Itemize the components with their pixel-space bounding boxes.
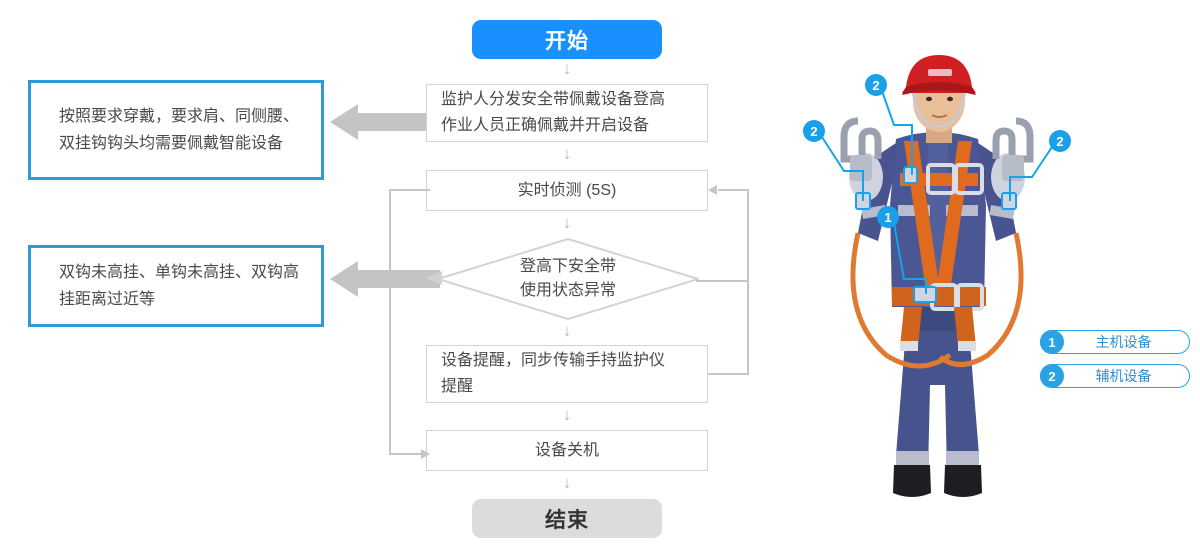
connector-arrow-start-to-distribute: ↓ (552, 60, 582, 77)
flow-decision-line1: 登高下安全带 (520, 255, 616, 279)
connector-arrow-poweroff-to-end: ↓ (552, 474, 582, 491)
device-legend: 1 主机设备 2 辅机设备 (1040, 330, 1190, 398)
callout-abnormal-cases[interactable]: 双钩未高挂、单钩未高挂、双钩高挂距离过近等 (28, 245, 324, 327)
flow-step-distribute-text: 监护人分发安全带佩戴设备登高 作业人员正确佩戴并开启设备 (427, 87, 707, 139)
callout-abnormal-cases-text: 双钩未高挂、单钩未高挂、双钩高挂距离过近等 (59, 259, 307, 313)
flow-step-realtime-detect-text: 实时侦测 (5S) (427, 178, 707, 204)
flow-end-terminator[interactable]: 结束 (472, 499, 662, 538)
flow-start-label: 开始 (545, 25, 589, 55)
flow-step-device-alert[interactable]: 设备提醒，同步传输手持监护仪 提醒 (426, 345, 708, 403)
photo-marker-2-right-hook: 2 (1049, 130, 1071, 152)
legend-item-auxiliary-device[interactable]: 2 辅机设备 (1040, 364, 1190, 388)
legend-label-auxiliary-device: 辅机设备 (1064, 366, 1189, 386)
svg-text:2: 2 (810, 124, 817, 139)
flow-step-power-off[interactable]: 设备关机 (426, 430, 708, 471)
callout-wear-requirement[interactable]: 按照要求穿戴，要求肩、同侧腰、双挂钩钩头均需要佩戴智能设备 (28, 80, 324, 180)
svg-text:2: 2 (1056, 134, 1063, 149)
photo-marker-2-left-shoulder: 2 (865, 74, 887, 96)
photo-marker-2-left-hook: 2 (803, 120, 825, 142)
svg-text:1: 1 (884, 210, 891, 225)
connector-decision-right-stub (696, 277, 752, 285)
legend-item-host-device[interactable]: 1 主机设备 (1040, 330, 1190, 354)
legend-label-host-device: 主机设备 (1064, 332, 1189, 352)
flow-end-label: 结束 (545, 504, 589, 534)
flow-decision-label: 登高下安全带 使用状态异常 (437, 238, 699, 320)
flow-decision-abnormal-state[interactable]: 登高下安全带 使用状态异常 (437, 238, 699, 320)
block-arrow-head-decision-left (424, 268, 444, 288)
photo-marker-1-waist-host: 1 (877, 206, 899, 228)
connector-arrow-decision-to-alert: ↓ (552, 322, 582, 339)
callout-wear-requirement-text: 按照要求穿戴，要求肩、同侧腰、双挂钩钩头均需要佩戴智能设备 (59, 103, 307, 157)
flow-step-device-alert-text: 设备提醒，同步传输手持监护仪 提醒 (427, 348, 707, 400)
connector-arrow-distribute-to-detect: ↓ (552, 145, 582, 162)
flow-start-terminator[interactable]: 开始 (472, 20, 662, 59)
flow-step-realtime-detect[interactable]: 实时侦测 (5S) (426, 170, 708, 211)
svg-text:2: 2 (872, 78, 879, 93)
connector-arrow-detect-to-decision: ↓ (552, 214, 582, 231)
flow-decision-line2: 使用状态异常 (520, 279, 616, 303)
block-arrow-to-wear-requirement (330, 100, 426, 144)
connector-arrow-alert-to-poweroff: ↓ (552, 406, 582, 423)
worker-safety-harness-photo: 2 2 2 1 (800, 55, 1090, 505)
legend-badge-2: 2 (1040, 364, 1064, 388)
flow-step-power-off-text: 设备关机 (427, 438, 707, 464)
connector-loop-detect-to-poweroff (382, 182, 438, 462)
legend-badge-1: 1 (1040, 330, 1064, 354)
flow-step-distribute[interactable]: 监护人分发安全带佩戴设备登高 作业人员正确佩戴并开启设备 (426, 84, 708, 142)
